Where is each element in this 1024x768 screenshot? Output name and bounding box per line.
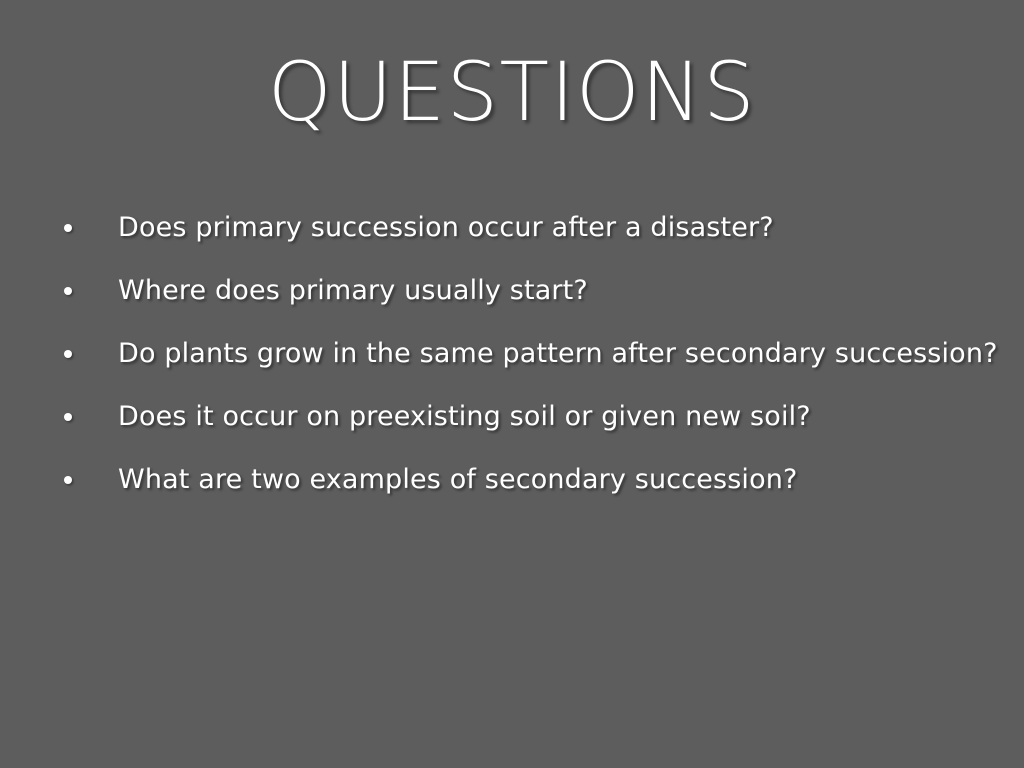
list-item: Do plants grow in the same pattern after… bbox=[0, 322, 1024, 385]
list-item: Does primary succession occur after a di… bbox=[0, 196, 1024, 259]
bullet-point-icon bbox=[64, 413, 72, 421]
list-item-label: What are two examples of secondary succe… bbox=[118, 463, 798, 497]
presentation-slide: QUESTIONS Does primary succession occur … bbox=[0, 0, 1024, 768]
bullet-point-icon bbox=[64, 287, 72, 295]
list-item: What are two examples of secondary succe… bbox=[0, 448, 1024, 511]
question-bullet-list: Does primary succession occur after a di… bbox=[0, 196, 1024, 511]
list-item: Does it occur on preexisting soil or giv… bbox=[0, 385, 1024, 448]
bullet-point-icon bbox=[64, 350, 72, 358]
bullet-point-icon bbox=[64, 224, 72, 232]
list-item-label: Does primary succession occur after a di… bbox=[118, 211, 774, 245]
list-item-label: Where does primary usually start? bbox=[118, 274, 588, 308]
list-item: Where does primary usually start? bbox=[0, 259, 1024, 322]
list-item-label: Do plants grow in the same pattern after… bbox=[118, 337, 998, 371]
bullet-point-icon bbox=[64, 476, 72, 484]
page-title: QUESTIONS bbox=[0, 48, 1024, 138]
list-item-label: Does it occur on preexisting soil or giv… bbox=[118, 400, 811, 434]
